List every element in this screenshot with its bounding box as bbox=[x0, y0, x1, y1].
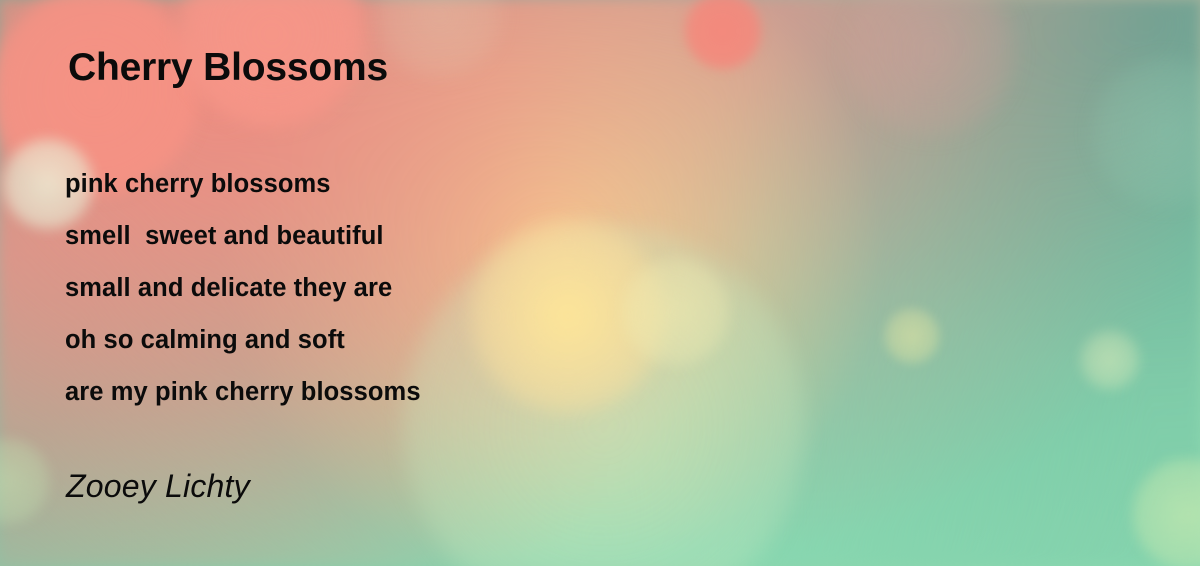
poem-line: smell sweet and beautiful bbox=[65, 210, 421, 262]
poem-body: pink cherry blossoms smell sweet and bea… bbox=[65, 158, 421, 418]
poem-title: Cherry Blossoms bbox=[68, 46, 388, 90]
poem-line: small and delicate they are bbox=[65, 262, 421, 314]
poem-author: Zooey Lichty bbox=[66, 468, 250, 505]
poem-line: oh so calming and soft bbox=[65, 314, 421, 366]
poem-line: are my pink cherry blossoms bbox=[65, 366, 421, 418]
poem-card: Cherry Blossoms pink cherry blossoms sme… bbox=[0, 0, 1200, 566]
poem-line: pink cherry blossoms bbox=[65, 158, 421, 210]
poem-content: Cherry Blossoms pink cherry blossoms sme… bbox=[0, 0, 1200, 566]
